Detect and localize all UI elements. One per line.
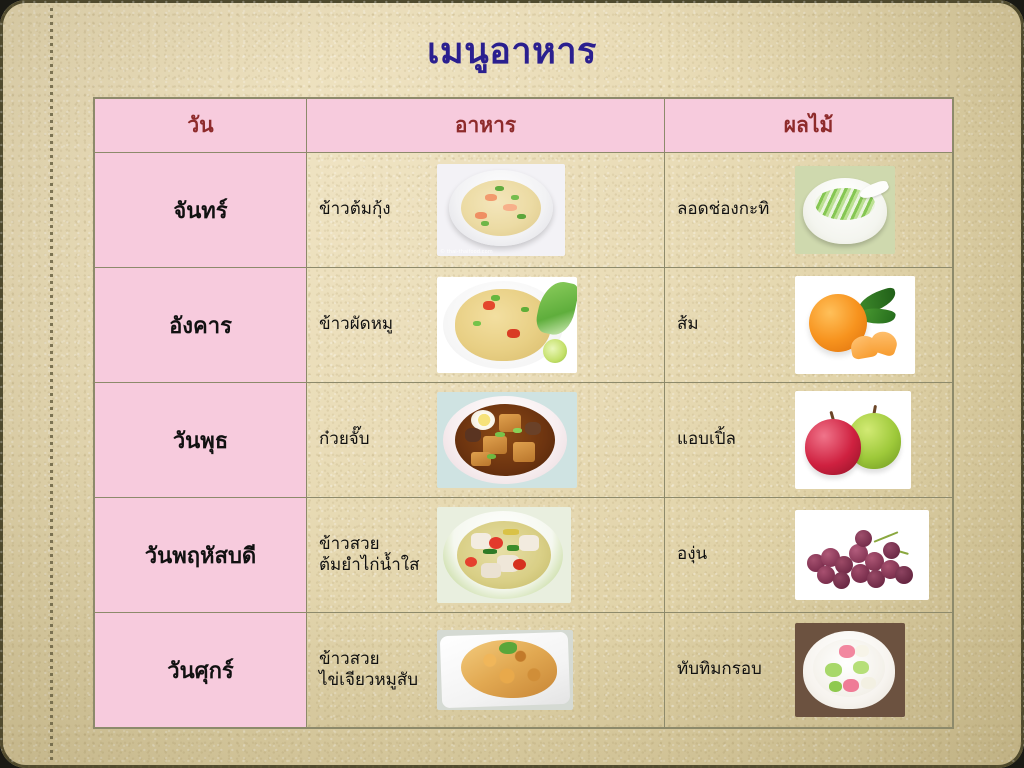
image-watermark: © thai-thaifood.com [440, 249, 493, 255]
lod-chong-coconut-milk-photo [795, 166, 895, 254]
food-cell: ข้าวผัดหมู [307, 268, 665, 383]
kuay-jab-noodle-soup-photo [437, 392, 577, 488]
fruit-cell: องุ่น [665, 498, 953, 613]
fruit-image [795, 510, 929, 600]
day-cell: วันพฤหัสบดี [95, 498, 307, 613]
slide-canvas: เมนูอาหาร วัน อาหาร ผลไม้ จันทร์ ข้าวต้ม… [0, 0, 1024, 768]
day-cell: อังคาร [95, 268, 307, 383]
food-label: ข้าวผัดหมู [319, 314, 427, 335]
table-header-row: วัน อาหาร ผลไม้ [95, 99, 953, 153]
fruit-cell: แอบเปิ้ล [665, 383, 953, 498]
food-label: ข้าวต้มกุ้ง [319, 199, 427, 220]
fruit-label: องุ่น [677, 544, 785, 565]
food-cell: ข้าวต้มกุ้ง [307, 153, 665, 268]
food-label: ข้าวสวย ไข่เจียวหมูสับ [319, 649, 427, 692]
table-row: วันพฤหัสบดี ข้าวสวย ต้มยำไก่น้ำใส [95, 498, 953, 613]
food-image [437, 277, 577, 373]
food-cell: ข้าวสวย ต้มยำไก่น้ำใส [307, 498, 665, 613]
day-cell: จันทร์ [95, 153, 307, 268]
table-body: จันทร์ ข้าวต้มกุ้ง [95, 153, 953, 728]
food-cell: ข้าวสวย ไข่เจียวหมูสับ [307, 613, 665, 728]
column-header-day: วัน [95, 99, 307, 153]
pork-fried-rice-photo [437, 277, 577, 373]
column-header-fruit: ผลไม้ [665, 99, 953, 153]
shrimp-rice-soup-photo: © thai-thaifood.com [437, 164, 565, 256]
table-row: วันพุธ ก๋วยจั๊บ [95, 383, 953, 498]
page-title: เมนูอาหาร [0, 30, 1024, 73]
fruit-label: แอบเปิ้ล [677, 429, 785, 450]
food-cell: ก๋วยจั๊บ [307, 383, 665, 498]
fruit-image [795, 276, 915, 374]
column-header-food: อาหาร [307, 99, 665, 153]
apples-photo [795, 391, 911, 489]
day-cell: วันพุธ [95, 383, 307, 498]
tub-tim-krob-dessert-photo [795, 623, 905, 717]
fruit-image [795, 166, 895, 254]
food-label: ก๋วยจั๊บ [319, 429, 427, 450]
fruit-image [795, 391, 911, 489]
fruit-cell: ลอดช่องกะทิ [665, 153, 953, 268]
food-image [437, 507, 571, 603]
clear-tom-yum-chicken-photo [437, 507, 571, 603]
fruit-label: ส้ม [677, 314, 785, 335]
table-header: วัน อาหาร ผลไม้ [95, 99, 953, 153]
fruit-label: ทับทิมกรอบ [677, 659, 785, 680]
table-row: อังคาร ข้าวผัดหมู [95, 268, 953, 383]
dotted-margin-rule [50, 8, 53, 760]
orange-photo [795, 276, 915, 374]
food-image [437, 630, 573, 710]
fruit-cell: ทับทิมกรอบ [665, 613, 953, 728]
minced-pork-omelette-photo [437, 630, 573, 710]
food-label: ข้าวสวย ต้มยำไก่น้ำใส [319, 534, 427, 577]
fruit-label: ลอดช่องกะทิ [677, 199, 785, 220]
food-image [437, 392, 577, 488]
fruit-cell: ส้ม [665, 268, 953, 383]
table-row: วันศุกร์ ข้าวสวย ไข่เจียวหมูสับ [95, 613, 953, 728]
menu-table: วัน อาหาร ผลไม้ จันทร์ ข้าวต้มกุ้ง [94, 98, 953, 728]
day-cell: วันศุกร์ [95, 613, 307, 728]
fruit-image [795, 623, 905, 717]
grapes-photo [795, 510, 929, 600]
food-image: © thai-thaifood.com [437, 164, 565, 256]
table-row: จันทร์ ข้าวต้มกุ้ง [95, 153, 953, 268]
